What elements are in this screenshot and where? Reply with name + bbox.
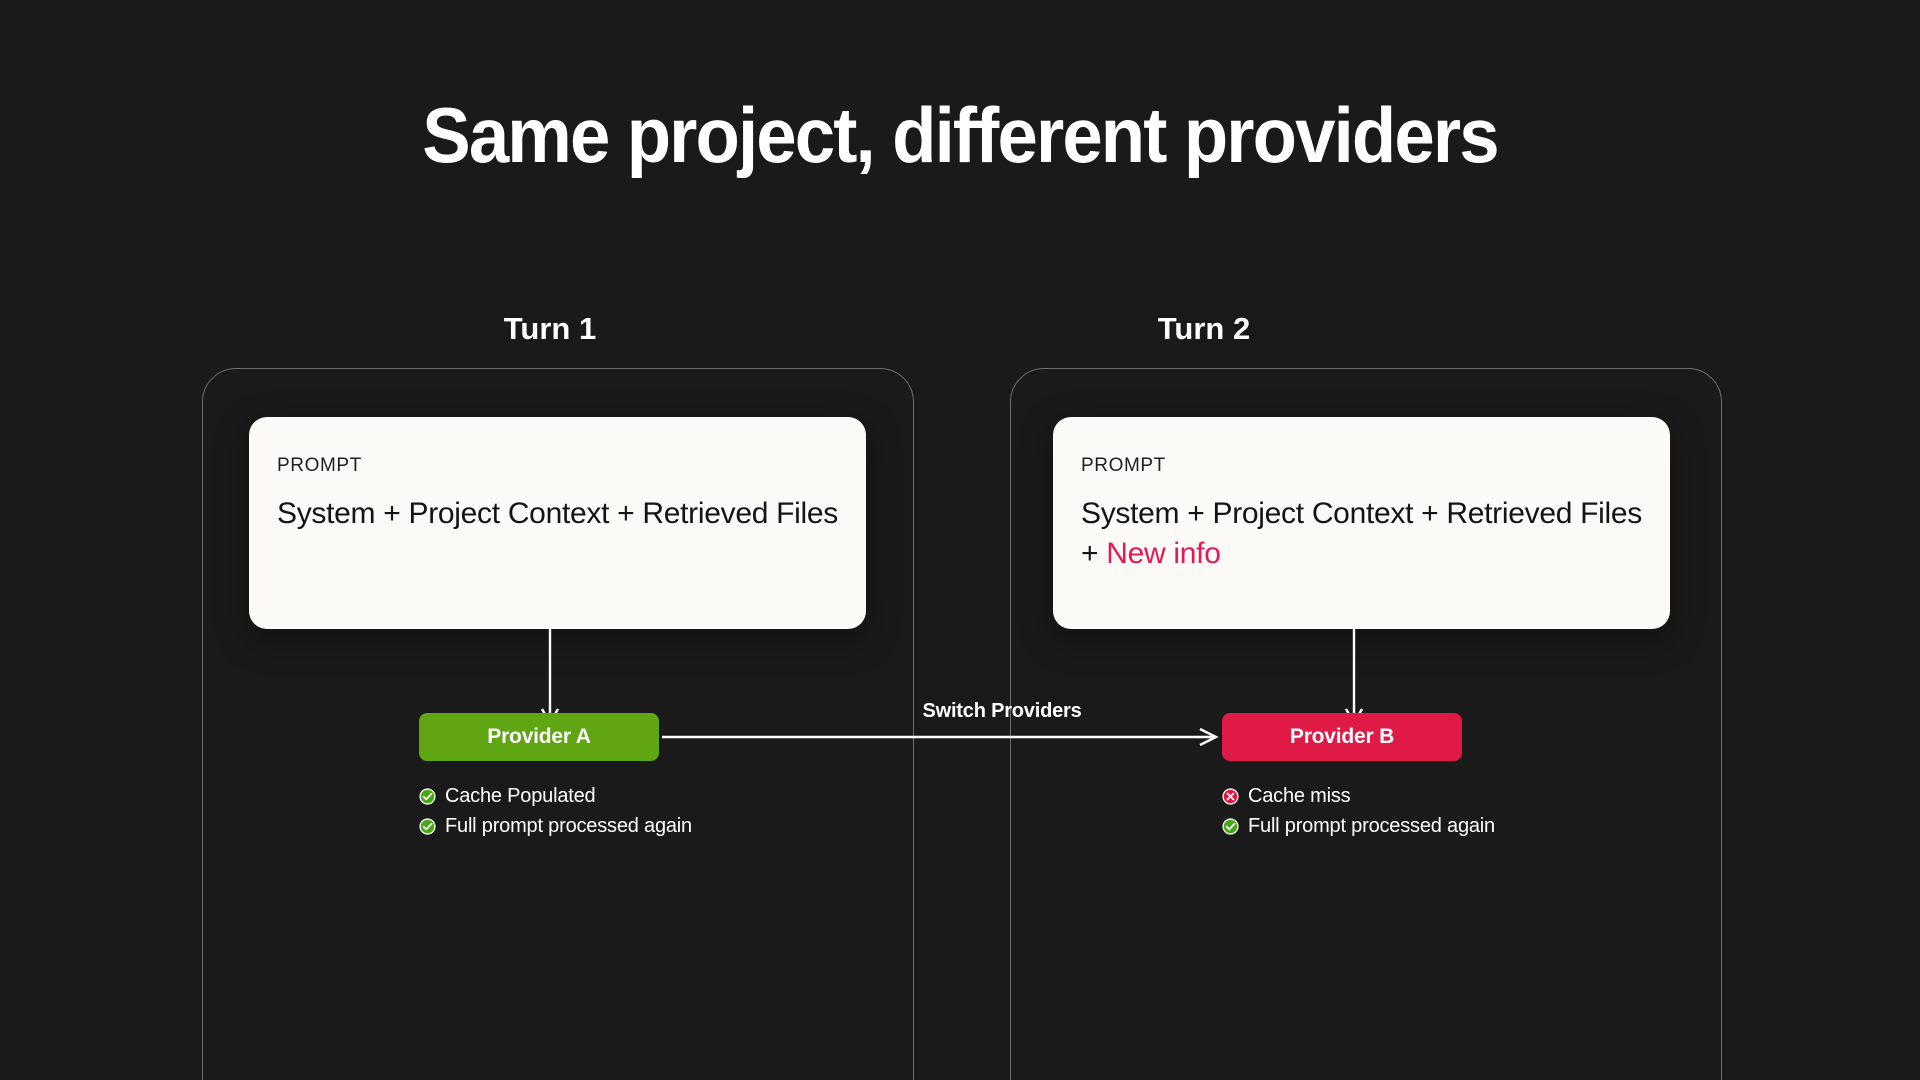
provider-b-label: Provider B (1290, 725, 1394, 749)
status-item: Cache Populated (419, 784, 692, 809)
arrow-right-switch-providers (662, 727, 1220, 747)
prompt-label: PROMPT (1081, 455, 1642, 477)
check-circle-icon (419, 818, 436, 835)
status-item: Full prompt processed again (419, 814, 692, 839)
provider-b-button[interactable]: Provider B (1222, 713, 1462, 761)
status-text: Cache Populated (445, 784, 595, 809)
prompt-text: System + Project Context + Retrieved Fil… (1081, 494, 1642, 574)
prompt-text-highlight: New info (1106, 537, 1220, 570)
status-text: Cache miss (1248, 784, 1350, 809)
provider-a-button[interactable]: Provider A (419, 713, 659, 761)
prompt-card-turn-1: PROMPT System + Project Context + Retrie… (249, 417, 866, 629)
switch-providers-label: Switch Providers (822, 700, 1182, 723)
status-text: Full prompt processed again (445, 814, 692, 839)
turn-1-heading: Turn 1 (400, 311, 700, 347)
x-circle-icon (1222, 788, 1239, 805)
check-circle-icon (1222, 818, 1239, 835)
status-list-turn-2: Cache miss Full prompt processed again (1222, 784, 1495, 839)
prompt-label: PROMPT (277, 455, 838, 477)
status-item: Cache miss (1222, 784, 1495, 809)
prompt-card-turn-2: PROMPT System + Project Context + Retrie… (1053, 417, 1670, 629)
status-text: Full prompt processed again (1248, 814, 1495, 839)
status-list-turn-1: Cache Populated Full prompt processed ag… (419, 784, 692, 839)
page-title: Same project, different providers (67, 96, 1853, 174)
turn-2-heading: Turn 2 (1054, 311, 1354, 347)
check-circle-icon (419, 788, 436, 805)
prompt-text-base: System + Project Context + Retrieved Fil… (277, 497, 838, 530)
provider-a-label: Provider A (487, 725, 590, 749)
status-item: Full prompt processed again (1222, 814, 1495, 839)
prompt-text: System + Project Context + Retrieved Fil… (277, 494, 838, 534)
